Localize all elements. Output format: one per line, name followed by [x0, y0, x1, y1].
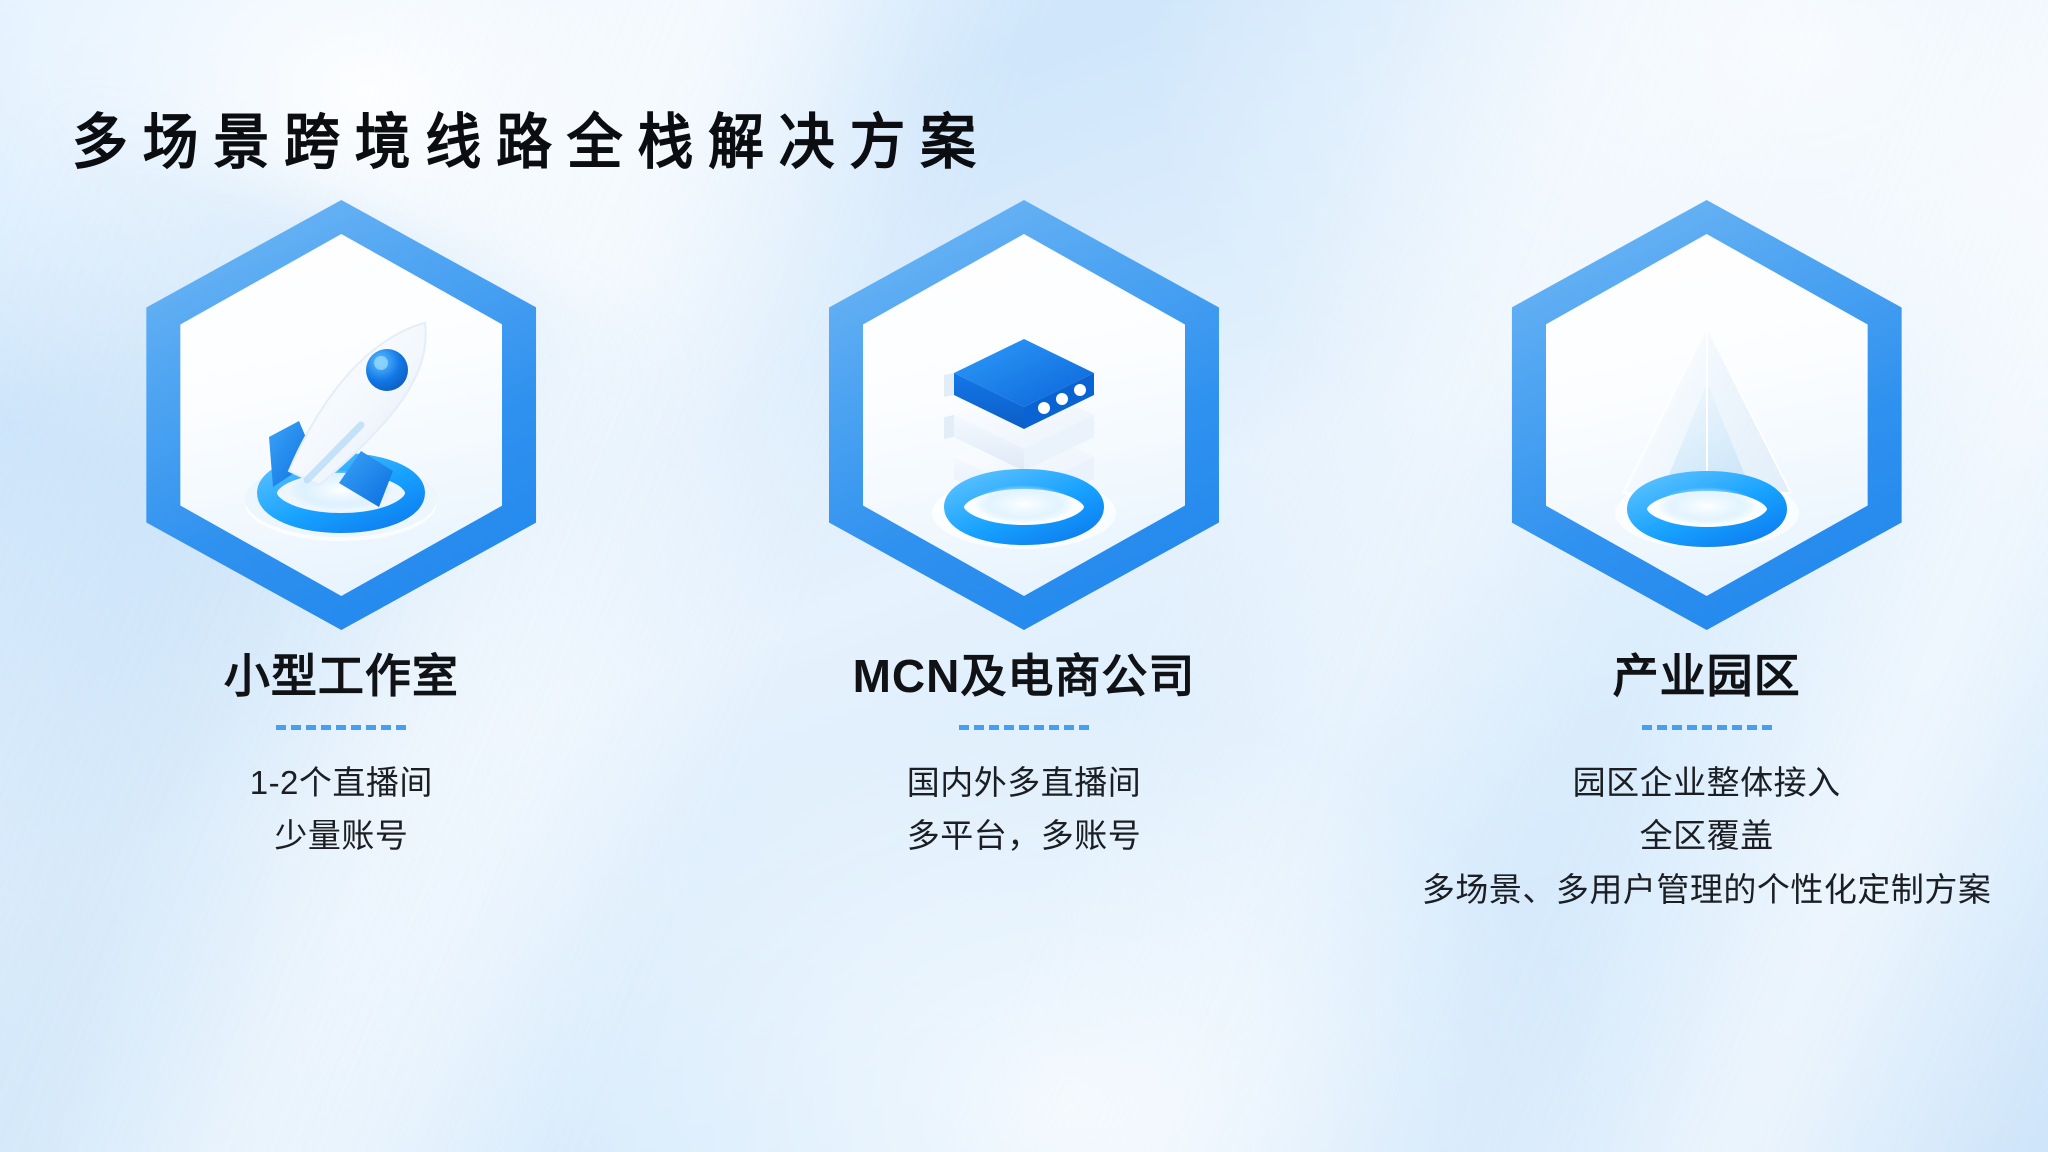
page-title: 多场景跨境线路全栈解决方案 — [72, 94, 991, 181]
scenario-card: 产业园区 园区企业整体接入 全区覆盖 多场景、多用户管理的个性化定制方案 — [1397, 200, 2017, 916]
card-description: 园区企业整体接入 全区覆盖 多场景、多用户管理的个性化定制方案 — [1422, 756, 1992, 916]
card-title: 小型工作室 — [224, 650, 459, 703]
server-stack-icon — [829, 200, 1219, 630]
card-divider — [959, 725, 1089, 730]
hexagon-badge — [829, 200, 1219, 630]
card-line: 少量账号 — [250, 809, 433, 862]
card-description: 国内外多直播间 多平台，多账号 — [907, 756, 1142, 863]
card-divider — [276, 725, 406, 730]
hexagon-badge — [1512, 200, 1902, 630]
card-line: 多平台，多账号 — [907, 809, 1142, 862]
slide-root: 多场景跨境线路全栈解决方案 — [0, 0, 2048, 1152]
card-line: 国内外多直播间 — [907, 756, 1142, 809]
card-title: 产业园区 — [1613, 650, 1801, 703]
scenario-card: MCN及电商公司 国内外多直播间 多平台，多账号 — [714, 200, 1334, 863]
card-line: 园区企业整体接入 — [1422, 756, 1992, 809]
scenario-card: 小型工作室 1-2个直播间 少量账号 — [31, 200, 651, 863]
card-line: 多场景、多用户管理的个性化定制方案 — [1422, 863, 1992, 916]
card-line: 1-2个直播间 — [250, 756, 433, 809]
pyramid-icon — [1512, 200, 1902, 630]
card-title: MCN及电商公司 — [853, 650, 1196, 703]
card-divider — [1642, 725, 1772, 730]
rocket-icon — [146, 200, 536, 630]
card-description: 1-2个直播间 少量账号 — [250, 756, 433, 863]
card-line: 全区覆盖 — [1422, 809, 1992, 862]
hexagon-badge — [146, 200, 536, 630]
scenario-card-list: 小型工作室 1-2个直播间 少量账号 — [0, 200, 2048, 916]
